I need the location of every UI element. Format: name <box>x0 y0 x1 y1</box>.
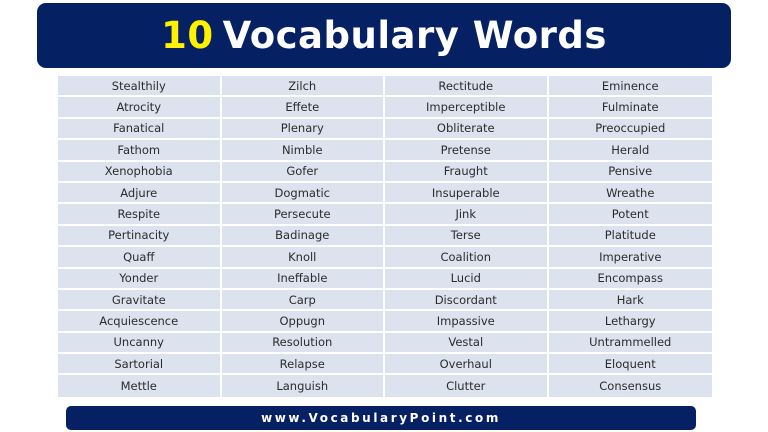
word-cell: Eminence <box>549 76 713 97</box>
word-cell: Persecute <box>222 204 386 225</box>
word-cell: Overhaul <box>385 354 549 375</box>
word-cell: Consensus <box>549 375 713 396</box>
word-cell: Gofer <box>222 162 386 183</box>
word-cell: Obliterate <box>385 119 549 140</box>
word-cell: Respite <box>58 204 222 225</box>
word-cell: Platitude <box>549 226 713 247</box>
word-cell: Carp <box>222 290 386 311</box>
word-cell: Fanatical <box>58 119 222 140</box>
word-cell: Stealthily <box>58 76 222 97</box>
table-row: MettleLanguishClutterConsensus <box>58 375 712 396</box>
word-cell: Jink <box>385 204 549 225</box>
word-cell: Effete <box>222 97 386 118</box>
word-cell: Encompass <box>549 269 713 290</box>
word-cell: Atrocity <box>58 97 222 118</box>
word-cell: Wreathe <box>549 183 713 204</box>
word-cell: Untrammelled <box>549 333 713 354</box>
table-row: AtrocityEffeteImperceptibleFulminate <box>58 97 712 118</box>
website-url: www.VocabularyPoint.com <box>261 412 501 424</box>
word-cell: Resolution <box>222 333 386 354</box>
word-cell: Mettle <box>58 375 222 396</box>
vocabulary-poster: 10 Vocabulary Words StealthilyZilchRecti… <box>0 0 768 432</box>
word-cell: Pretense <box>385 140 549 161</box>
word-cell: Terse <box>385 226 549 247</box>
word-cell: Knoll <box>222 247 386 268</box>
table-row: AcquiescenceOppugnImpassiveLethargy <box>58 311 712 332</box>
word-cell: Rectitude <box>385 76 549 97</box>
header-banner: 10 Vocabulary Words <box>37 3 731 68</box>
table-row: StealthilyZilchRectitudeEminence <box>58 76 712 97</box>
word-cell: Fraught <box>385 162 549 183</box>
table-row: FathomNimblePretenseHerald <box>58 140 712 161</box>
word-count: 10 <box>161 17 214 54</box>
word-cell: Uncanny <box>58 333 222 354</box>
word-cell: Imperceptible <box>385 97 549 118</box>
word-cell: Eloquent <box>549 354 713 375</box>
word-cell: Acquiescence <box>58 311 222 332</box>
word-cell: Adjure <box>58 183 222 204</box>
table-row: PertinacityBadinageTersePlatitude <box>58 226 712 247</box>
word-cell: Insuperable <box>385 183 549 204</box>
word-cell: Pensive <box>549 162 713 183</box>
word-cell: Oppugn <box>222 311 386 332</box>
table-row: XenophobiaGoferFraughtPensive <box>58 162 712 183</box>
word-table-body: StealthilyZilchRectitudeEminenceAtrocity… <box>58 76 712 397</box>
word-cell: Nimble <box>222 140 386 161</box>
table-row: AdjureDogmaticInsuperableWreathe <box>58 183 712 204</box>
word-cell: Sartorial <box>58 354 222 375</box>
table-row: SartorialRelapseOverhaulEloquent <box>58 354 712 375</box>
table-row: RespitePersecuteJinkPotent <box>58 204 712 225</box>
word-cell: Zilch <box>222 76 386 97</box>
word-cell: Xenophobia <box>58 162 222 183</box>
word-cell: Ineffable <box>222 269 386 290</box>
table-row: UncannyResolutionVestalUntrammelled <box>58 333 712 354</box>
word-cell: Vestal <box>385 333 549 354</box>
word-cell: Herald <box>549 140 713 161</box>
vocabulary-word-table: StealthilyZilchRectitudeEminenceAtrocity… <box>58 76 712 397</box>
word-cell: Languish <box>222 375 386 396</box>
word-cell: Hark <box>549 290 713 311</box>
word-cell: Impassive <box>385 311 549 332</box>
word-cell: Potent <box>549 204 713 225</box>
word-cell: Fathom <box>58 140 222 161</box>
table-row: GravitateCarpDiscordantHark <box>58 290 712 311</box>
footer-banner: www.VocabularyPoint.com <box>66 406 696 430</box>
word-cell: Gravitate <box>58 290 222 311</box>
word-cell: Relapse <box>222 354 386 375</box>
table-row: QuaffKnollCoalitionImperative <box>58 247 712 268</box>
word-cell: Dogmatic <box>222 183 386 204</box>
word-cell: Plenary <box>222 119 386 140</box>
word-cell: Coalition <box>385 247 549 268</box>
word-cell: Preoccupied <box>549 119 713 140</box>
word-cell: Badinage <box>222 226 386 247</box>
word-cell: Imperative <box>549 247 713 268</box>
title-text: Vocabulary Words <box>223 17 607 54</box>
word-cell: Fulminate <box>549 97 713 118</box>
table-row: FanaticalPlenaryObliteratePreoccupied <box>58 119 712 140</box>
word-cell: Lethargy <box>549 311 713 332</box>
word-cell: Discordant <box>385 290 549 311</box>
word-cell: Yonder <box>58 269 222 290</box>
table-row: YonderIneffableLucidEncompass <box>58 269 712 290</box>
word-cell: Lucid <box>385 269 549 290</box>
word-cell: Clutter <box>385 375 549 396</box>
word-cell: Quaff <box>58 247 222 268</box>
word-cell: Pertinacity <box>58 226 222 247</box>
page-title: 10 Vocabulary Words <box>161 17 607 54</box>
